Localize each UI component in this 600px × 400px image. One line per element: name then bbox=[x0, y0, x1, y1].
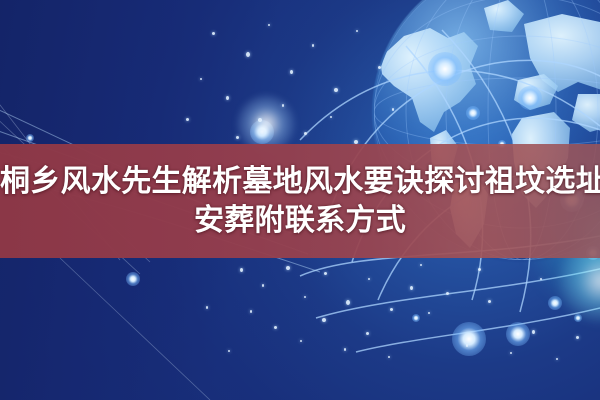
title-line-2: 安葬附联系方式 bbox=[0, 201, 600, 240]
title-band: 桐乡风水先生解析墓地风水要诀探讨祖坟选址迁坟 安葬附联系方式 bbox=[0, 144, 600, 258]
title-line-1: 桐乡风水先生解析墓地风水要诀探讨祖坟选址迁坟 bbox=[0, 162, 600, 201]
banner-image: 桐乡风水先生解析墓地风水要诀探讨祖坟选址迁坟 安葬附联系方式 bbox=[0, 0, 600, 400]
